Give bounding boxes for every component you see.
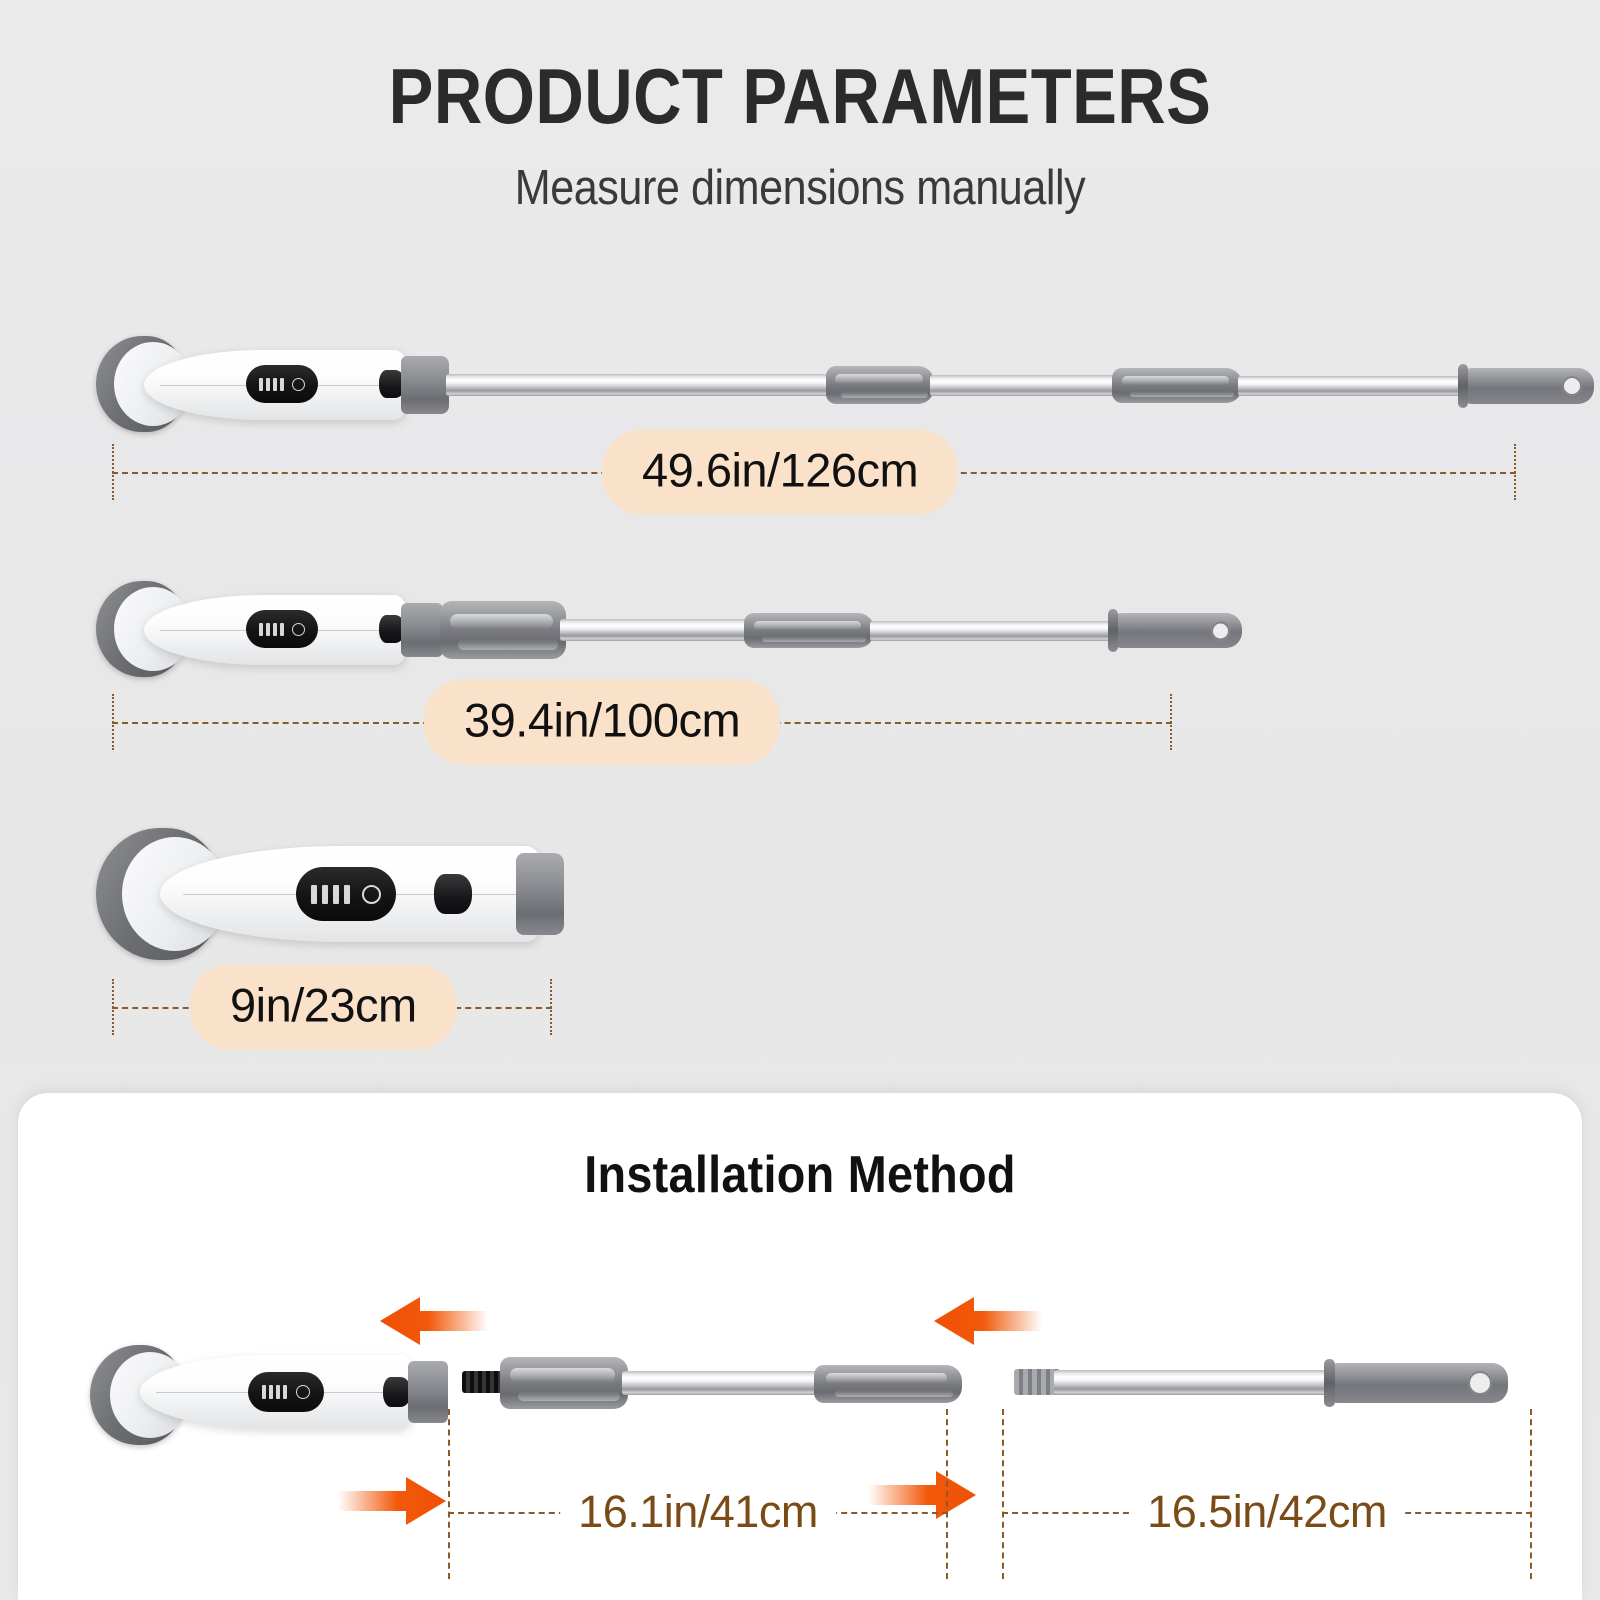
page-subtitle: Measure dimensions manually [96, 160, 1504, 216]
led-bar [276, 1385, 280, 1399]
led-bar [273, 623, 277, 636]
install-dimension-label-pole-1: 16.1in/41cm [560, 1486, 836, 1538]
pole-end-grip [1328, 1363, 1508, 1403]
dimension-tick-left [448, 1409, 450, 1579]
dimension-row-full-extended: 49.6in/126cm [112, 440, 1516, 504]
pole-tube-segment [560, 619, 750, 641]
dimension-label-one-pole: 39.4in/100cm [424, 680, 780, 765]
battery-led-indicator [259, 378, 284, 391]
sleeve-highlight [458, 639, 559, 649]
pole-connector-nose [440, 601, 566, 659]
pole-tube-segment [870, 621, 1118, 641]
sleeve-highlight [450, 614, 553, 629]
dimension-tick-left [1002, 1409, 1004, 1579]
grip-ferrule [1458, 364, 1468, 408]
hanging-hole [1468, 1371, 1492, 1395]
led-bar [311, 885, 317, 904]
battery-led-indicator [262, 1385, 287, 1399]
pole-tube-segment [622, 1371, 822, 1395]
display-panel[interactable] [296, 867, 396, 921]
trigger-button[interactable] [383, 1377, 411, 1407]
product-handheld [96, 820, 556, 970]
install-pole-segment-2 [1014, 1343, 1508, 1413]
led-bar [266, 623, 270, 636]
led-bar [333, 885, 339, 904]
page-title: PRODUCT PARAMETERS [112, 56, 1488, 138]
sleeve-highlight [754, 621, 861, 630]
battery-led-indicator [311, 885, 350, 904]
power-icon[interactable] [362, 885, 381, 904]
install-dimension-pole-1: 16.1in/41cm [448, 1481, 948, 1543]
sleeve-highlight [762, 636, 866, 642]
led-bar [269, 1385, 273, 1399]
grip-ferrule [1324, 1359, 1335, 1407]
hanging-hole [1211, 621, 1230, 640]
pole-end-grip [1462, 368, 1594, 404]
led-bar [280, 378, 284, 391]
pole-end-grip [1112, 613, 1242, 648]
dimension-tick-right [1514, 444, 1516, 500]
product-one-pole [96, 575, 1176, 685]
power-icon[interactable] [292, 623, 305, 636]
dimension-label-full-extended: 49.6in/126cm [602, 430, 958, 515]
sleeve-highlight [510, 1368, 615, 1382]
dimension-tick-left [112, 694, 114, 750]
led-bar [273, 378, 277, 391]
led-bar [344, 885, 350, 904]
grip-ferrule [1108, 609, 1118, 652]
pole-tube-segment [446, 374, 846, 396]
display-panel[interactable] [246, 610, 318, 648]
installation-title: Installation Method [96, 1145, 1504, 1205]
handle-collar [401, 603, 443, 657]
sleeve-highlight [518, 1391, 620, 1400]
dimension-tick-right [1170, 694, 1172, 750]
handle-collar [516, 853, 564, 935]
led-bar [283, 1385, 287, 1399]
pole-grip-sleeve [744, 613, 874, 648]
sleeve-highlight [1122, 376, 1229, 385]
dimension-row-one-pole: 39.4in/100cm [112, 690, 1172, 754]
installation-card: Installation Method [18, 1093, 1582, 1600]
led-bar [280, 623, 284, 636]
handle-collar [408, 1361, 448, 1423]
dimension-label-handheld: 9in/23cm [190, 965, 457, 1050]
dimension-tick-right [1530, 1409, 1532, 1579]
battery-led-indicator [259, 623, 284, 636]
hanging-hole [1562, 376, 1582, 396]
pole-tube-segment [930, 375, 1120, 396]
pole-grip-sleeve [1112, 368, 1242, 403]
pole-grip-sleeve [814, 1365, 962, 1403]
arrow-handle-left [380, 1293, 488, 1349]
sleeve-highlight [835, 374, 924, 384]
sleeve-highlight [841, 391, 927, 398]
product-parameters-infographic: PRODUCT PARAMETERS Measure dimensions ma… [0, 0, 1600, 1600]
led-bar [322, 885, 328, 904]
trigger-button[interactable] [434, 874, 472, 914]
dimension-row-handheld: 9in/23cm [112, 975, 552, 1039]
dimension-tick-right [946, 1409, 948, 1579]
handle-collar [401, 356, 449, 414]
display-panel[interactable] [248, 1372, 324, 1412]
pole-connector-sleeve [826, 366, 934, 404]
power-icon[interactable] [292, 378, 305, 391]
power-icon[interactable] [296, 1385, 310, 1399]
led-bar [266, 378, 270, 391]
dimension-tick-right [550, 979, 552, 1035]
pole-tube-segment [1054, 1370, 1334, 1395]
led-bar [262, 1385, 266, 1399]
arrow-handle-right [338, 1473, 446, 1529]
install-pole-segment-1 [462, 1343, 962, 1413]
product-fully-extended [96, 330, 1516, 440]
pole-tube-segment [1238, 376, 1470, 396]
dimension-tick-left [112, 444, 114, 500]
pole-connector-nose [500, 1357, 628, 1409]
sleeve-highlight [1130, 391, 1234, 397]
display-panel[interactable] [246, 365, 318, 403]
led-bar [259, 623, 263, 636]
sleeve-highlight [826, 1373, 947, 1383]
dimension-tick-left [112, 979, 114, 1035]
install-dimension-label-pole-2: 16.5in/42cm [1129, 1486, 1405, 1538]
arrow-pole-left [934, 1293, 1042, 1349]
sleeve-highlight [835, 1390, 953, 1397]
install-dimension-pole-2: 16.5in/42cm [1002, 1481, 1532, 1543]
led-bar [259, 378, 263, 391]
